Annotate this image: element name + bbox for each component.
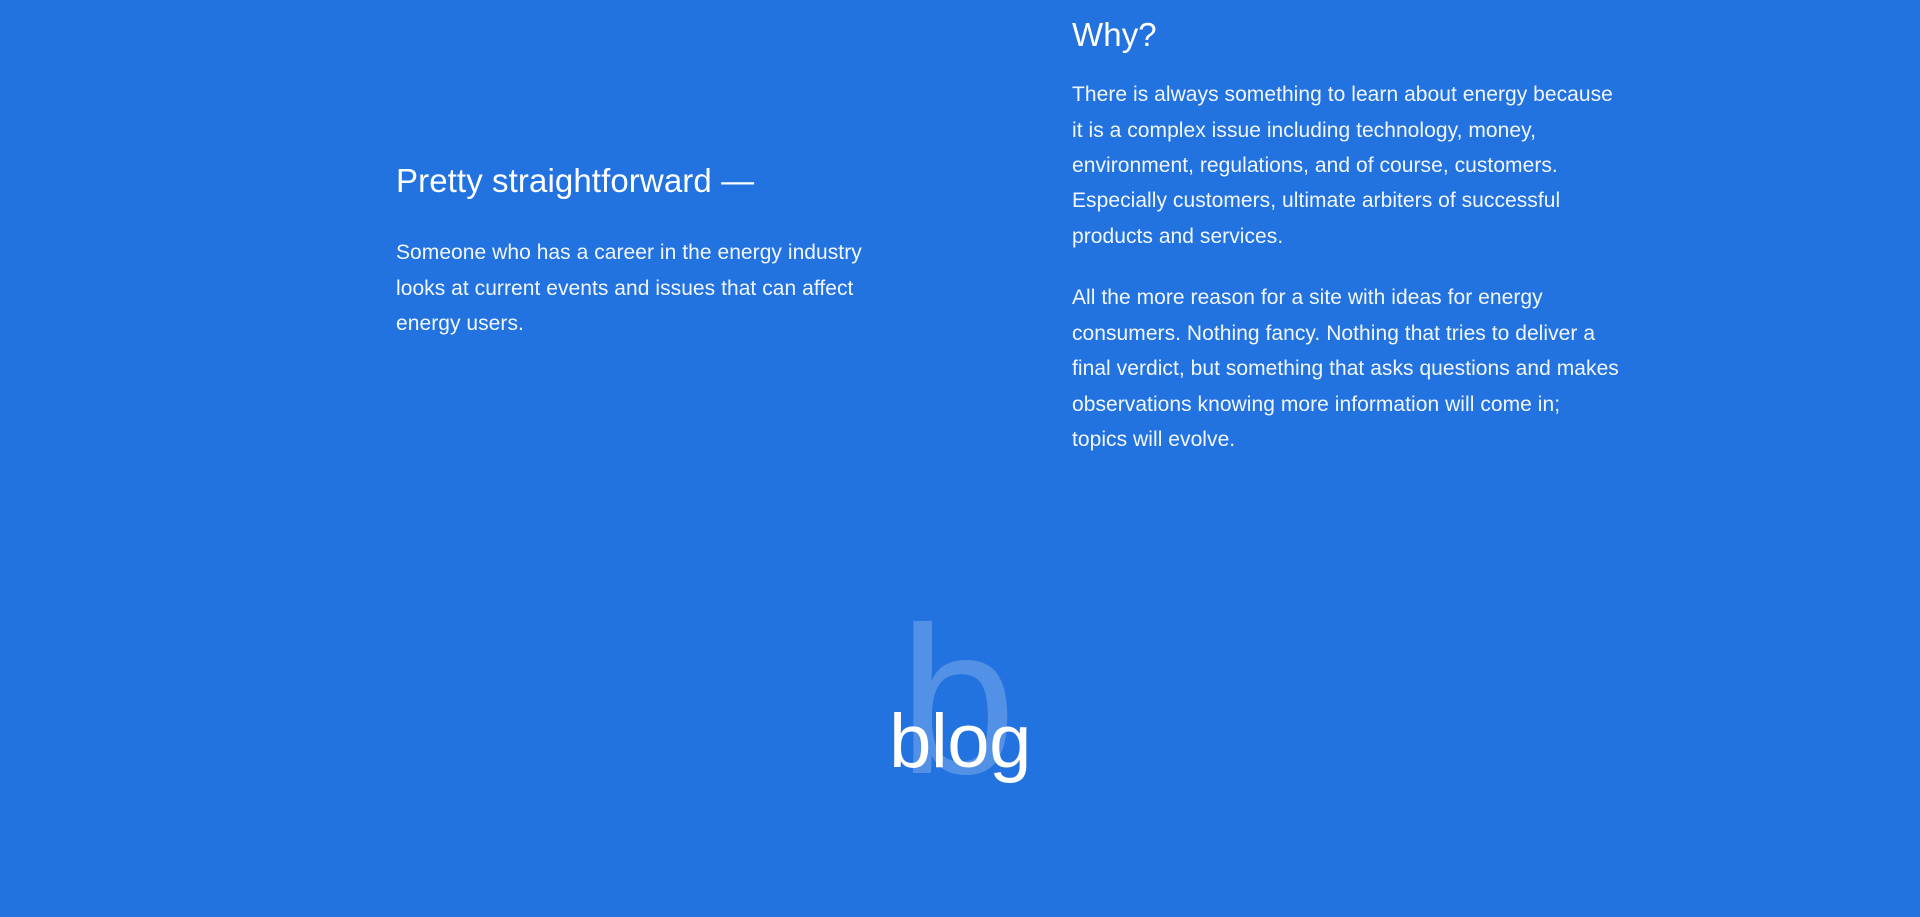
left-column-heading: Pretty straightforward — (396, 160, 906, 201)
right-column-heading: Why? (1072, 14, 1620, 55)
blog-logo-wordmark: blog (889, 704, 1031, 780)
page-root: Pretty straightforward — Someone who has… (0, 0, 1920, 917)
blog-logo[interactable]: b blog (0, 600, 1920, 840)
right-content-column: Why? There is always something to learn … (1072, 14, 1620, 457)
right-column-paragraph-2: All the more reason for a site with idea… (1072, 280, 1620, 457)
left-content-column: Pretty straightforward — Someone who has… (396, 160, 906, 341)
right-column-paragraph-1: There is always something to learn about… (1072, 77, 1620, 254)
left-column-paragraph-1: Someone who has a career in the energy i… (396, 235, 906, 341)
blog-logo-inner: b blog (820, 600, 1100, 840)
